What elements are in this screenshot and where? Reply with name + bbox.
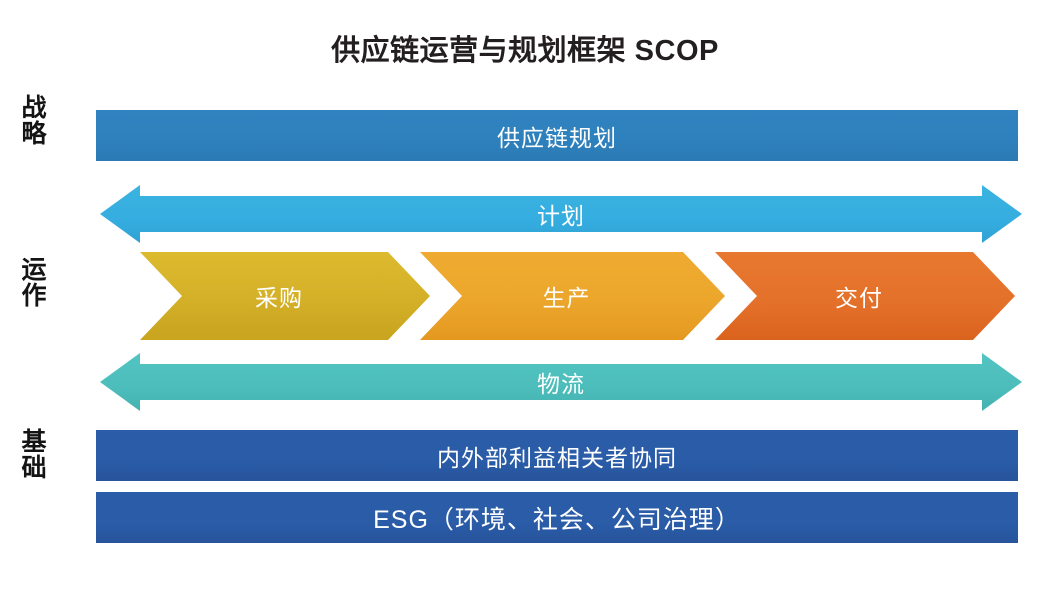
tier-label-strategy: 战 略	[6, 96, 62, 147]
diagram-canvas: 供应链运营与规划框架 SCOP 战 略 运 作 基 础 供应链规划 计划	[0, 0, 1050, 591]
bar-supply-chain-planning-label: 供应链规划	[497, 119, 617, 153]
process-chevron-row: 采购 生产	[0, 252, 1050, 340]
bar-supply-chain-planning[interactable]: 供应链规划	[96, 110, 1018, 161]
chevron-production[interactable]: 生产	[420, 252, 725, 340]
tier-label-strategy-char-1: 战	[6, 96, 62, 122]
arrow-logistics-label: 物流	[537, 365, 585, 399]
bar-esg-label: ESG（环境、社会、公司治理）	[373, 500, 741, 536]
bar-esg[interactable]: ESG（环境、社会、公司治理）	[96, 492, 1018, 543]
tier-label-strategy-char-2: 略	[6, 122, 62, 148]
bar-stakeholder-collaboration-label: 内外部利益相关者协同	[437, 439, 677, 473]
arrow-plan[interactable]: 计划	[100, 183, 1022, 245]
chevron-delivery-label: 交付	[835, 279, 883, 313]
arrow-logistics[interactable]: 物流	[100, 351, 1022, 413]
tier-label-foundation: 基 础	[6, 430, 62, 481]
bar-stakeholder-collaboration[interactable]: 内外部利益相关者协同	[96, 430, 1018, 481]
tier-label-foundation-char-2: 础	[6, 456, 62, 482]
chevron-procurement-label: 采购	[255, 279, 303, 313]
chevron-delivery[interactable]: 交付	[715, 252, 1015, 340]
tier-label-foundation-char-1: 基	[6, 430, 62, 456]
arrow-plan-label: 计划	[537, 197, 585, 231]
page-title: 供应链运营与规划框架 SCOP	[0, 36, 1050, 68]
chevron-procurement[interactable]: 采购	[140, 252, 430, 340]
chevron-production-label: 生产	[543, 279, 591, 313]
